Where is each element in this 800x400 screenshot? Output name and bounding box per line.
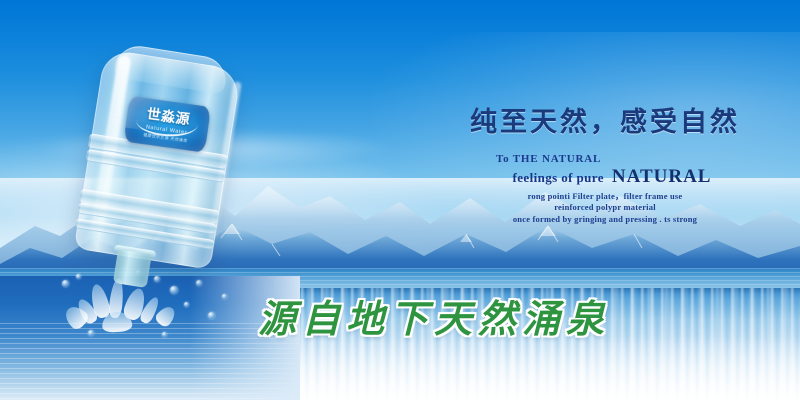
subhead-line-2-small: feelings of pure — [513, 170, 604, 186]
bottle-neck — [113, 249, 152, 288]
subhead-line-2: feelings of pure NATURAL — [454, 166, 770, 188]
headline-cn: 纯至天然，感受自然 — [440, 100, 770, 139]
fine-print-line-3: once formed by gringing and pressing . t… — [440, 214, 770, 225]
fine-print-line-2: reinforced polypr material — [440, 202, 770, 213]
subhead-line-1: To THE NATURAL — [496, 153, 770, 165]
slogan-cn: 源自地下天然涌泉 — [258, 288, 610, 343]
fine-print-line-1: rong pointi Filter plate，filter frame us… — [440, 191, 770, 202]
water-ad-banner: 世淼源 Natural Water 健康饮水之源 天然涌泉 纯至天然，感受自然 … — [0, 0, 800, 400]
subhead-line-2-large: NATURAL — [612, 166, 712, 188]
ad-copy-block: 纯至天然，感受自然 To THE NATURAL feelings of pur… — [440, 100, 770, 225]
